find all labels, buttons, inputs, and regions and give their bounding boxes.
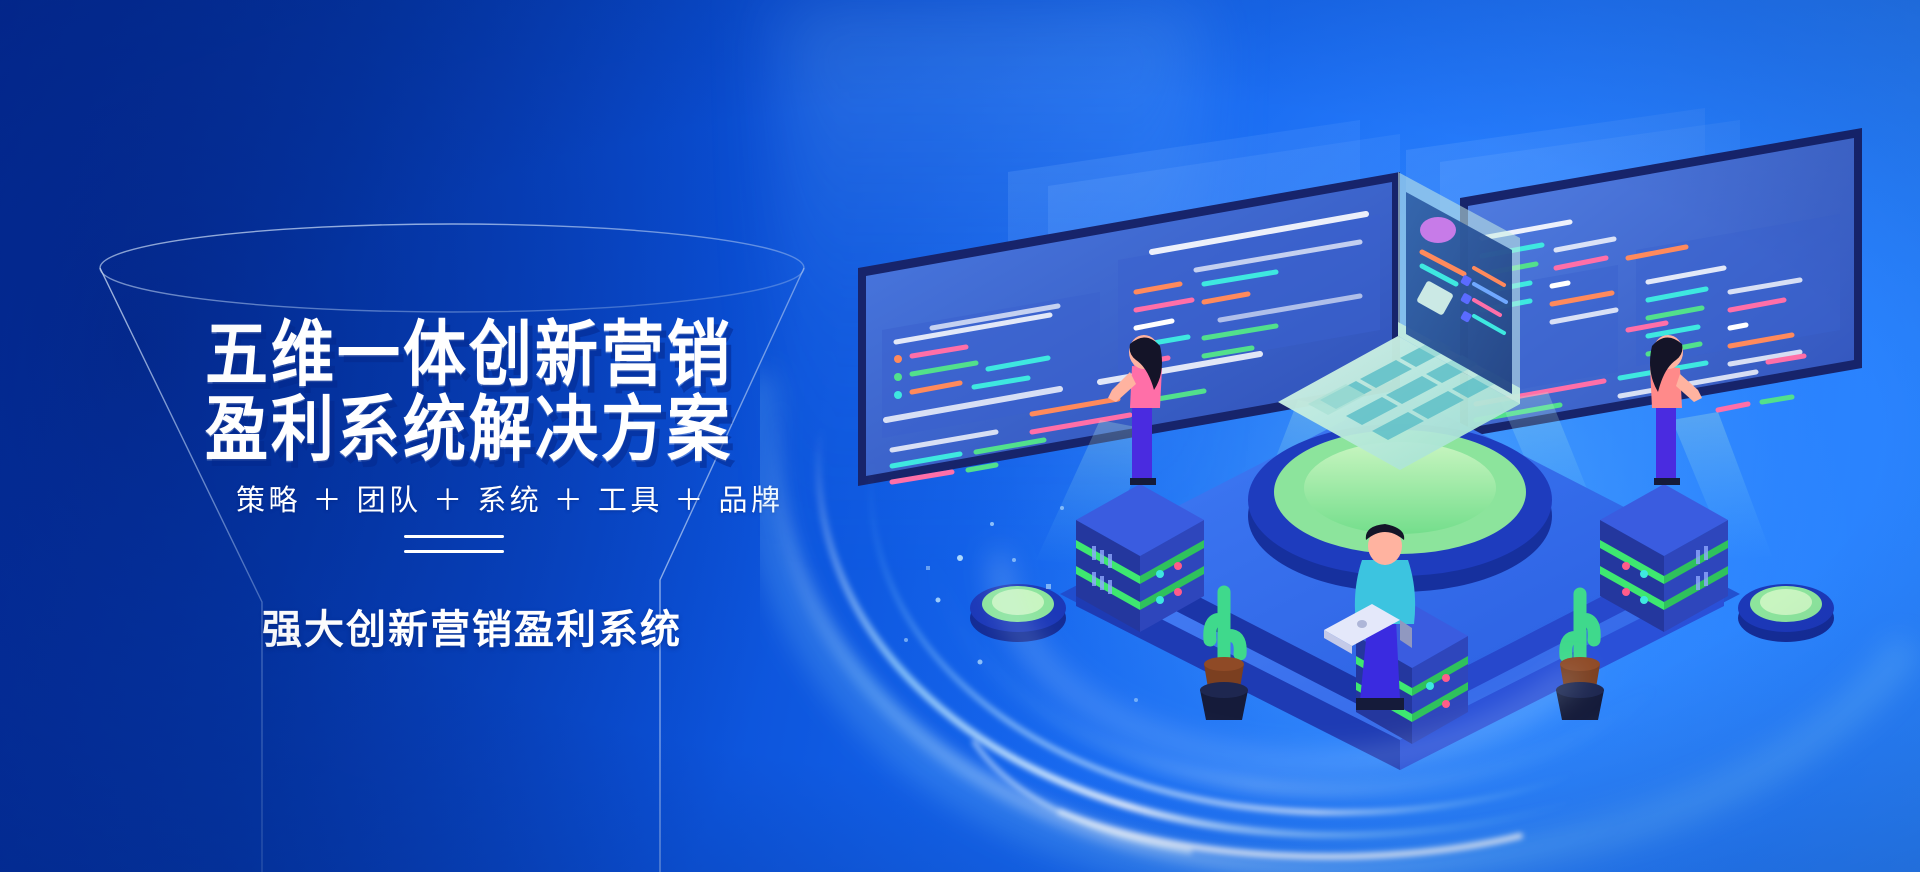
vignette-overlay — [0, 0, 1920, 872]
marketing-banner: 五维一体创新营销 盈利系统解决方案 策略 ＋ 团队 ＋ 系统 ＋ 工具 ＋ 品牌… — [0, 0, 1920, 872]
